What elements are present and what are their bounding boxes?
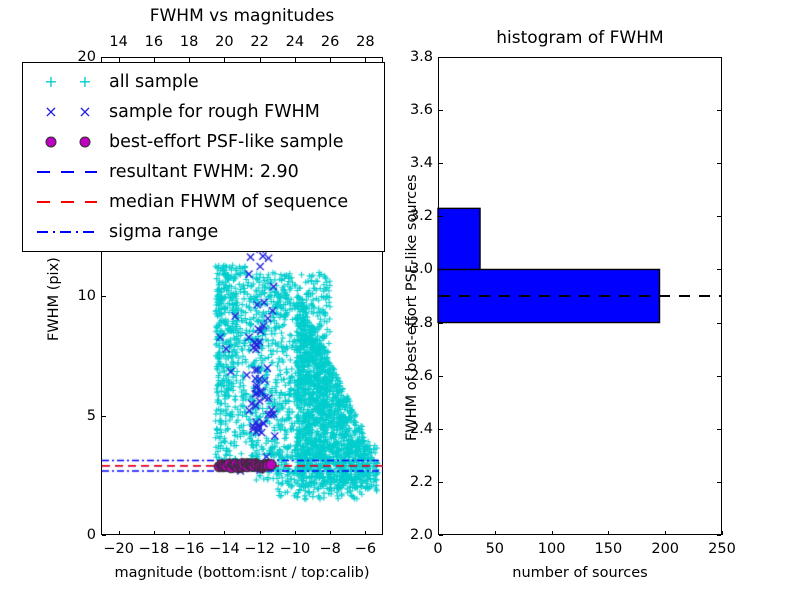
tick-label: 5: [63, 408, 96, 424]
tick-mark: [154, 531, 155, 535]
tick-mark: [717, 57, 721, 58]
histogram-bar: [438, 208, 480, 269]
tick-mark: [717, 376, 721, 377]
tick-label: 2.6: [394, 368, 433, 384]
tick-mark: [330, 531, 331, 535]
tick-mark: [608, 531, 609, 535]
legend-label: sigma range: [105, 222, 218, 242]
tick-mark: [102, 296, 106, 297]
tick-mark: [439, 482, 443, 483]
tick-label: 50: [486, 541, 504, 557]
legend-marker-dot-icon: [29, 129, 105, 155]
tick-label: 24: [286, 34, 304, 50]
tick-label: −14: [209, 541, 240, 557]
legend-label: sample for rough FWHM: [105, 102, 320, 122]
tick-label: 26: [321, 34, 339, 50]
tick-label: 0: [433, 541, 442, 557]
tick-mark: [260, 531, 261, 535]
tick-mark: [439, 163, 443, 164]
tick-label: −18: [139, 541, 170, 557]
legend-marker-dashdot-icon: [29, 219, 105, 245]
tick-mark: [102, 57, 106, 58]
tick-label: 28: [356, 34, 374, 50]
legend-marker-dashed-icon: [29, 159, 105, 185]
right-panel-xlabel: number of sources: [438, 565, 722, 581]
legend-marker-dashed-icon: [29, 189, 105, 215]
tick-mark: [717, 482, 721, 483]
legend-item-4: median FHWM of sequence: [29, 187, 376, 217]
plus-marker-icon: +: [44, 74, 57, 90]
tick-mark: [295, 531, 296, 535]
legend-marker-plus-icon: ++: [29, 69, 105, 95]
right-panel-title: histogram of FWHM: [438, 28, 722, 48]
tick-label: 250: [708, 541, 736, 557]
left-panel-ylabel: FWHM (pix): [46, 257, 62, 341]
legend-item-5: sigma range: [29, 217, 376, 247]
tick-mark: [495, 531, 496, 535]
legend-item-2: best-effort PSF-like sample: [29, 127, 376, 157]
tick-mark: [102, 416, 106, 417]
tick-label: 2.8: [394, 315, 433, 331]
tick-label: −10: [280, 541, 311, 557]
tick-label: −20: [103, 541, 134, 557]
tick-mark: [439, 110, 443, 111]
left-panel-xlabel: magnitude (bottom:isnt / top:calib): [101, 565, 383, 581]
tick-mark: [119, 531, 120, 535]
histogram-bars: [439, 58, 722, 535]
tick-mark: [665, 531, 666, 535]
tick-mark: [717, 216, 721, 217]
legend-item-1: ××sample for rough FWHM: [29, 97, 376, 127]
tick-label: 14: [109, 34, 127, 50]
left-panel-title: FWHM vs magnitudes: [101, 6, 383, 26]
tick-label: 150: [595, 541, 623, 557]
figure-canvas: FWHM vs magnitudes magnitude (bottom:isn…: [0, 0, 800, 600]
tick-label: −12: [244, 541, 275, 557]
tick-mark: [717, 269, 721, 270]
tick-label: 100: [538, 541, 566, 557]
tick-label: 0: [63, 527, 96, 543]
tick-mark: [102, 535, 106, 536]
tick-label: 200: [651, 541, 679, 557]
legend-marker-cross-icon: ××: [29, 99, 105, 125]
tick-label: 22: [250, 34, 268, 50]
legend-item-3: resultant FWHM: 2.90: [29, 157, 376, 187]
tick-label: −16: [174, 541, 205, 557]
tick-mark: [224, 531, 225, 535]
tick-label: −6: [355, 541, 376, 557]
tick-label: 3.4: [394, 155, 433, 171]
cross-marker-icon: ×: [78, 104, 91, 120]
dot-marker-icon: [80, 137, 91, 148]
tick-mark: [439, 535, 443, 536]
tick-label: 3.2: [394, 208, 433, 224]
tick-mark: [365, 531, 366, 535]
legend-label: best-effort PSF-like sample: [105, 132, 344, 152]
tick-label: 2.4: [394, 421, 433, 437]
tick-label: 20: [215, 34, 233, 50]
dot-marker-icon: [46, 137, 57, 148]
tick-label: 3.6: [394, 102, 433, 118]
tick-label: 3.8: [394, 49, 433, 65]
tick-mark: [717, 323, 721, 324]
tick-label: 18: [180, 34, 198, 50]
tick-mark: [552, 531, 553, 535]
tick-mark: [717, 535, 721, 536]
tick-label: 10: [63, 288, 96, 304]
tick-mark: [439, 376, 443, 377]
tick-mark: [717, 110, 721, 111]
cross-marker-icon: ×: [44, 104, 57, 120]
legend-label: all sample: [105, 72, 199, 92]
tick-mark: [717, 163, 721, 164]
tick-mark: [717, 429, 721, 430]
tick-mark: [439, 429, 443, 430]
tick-label: 2.2: [394, 474, 433, 490]
plus-marker-icon: +: [78, 74, 91, 90]
tick-label: 3.0: [394, 261, 433, 277]
tick-label: −8: [319, 541, 340, 557]
tick-mark: [439, 269, 443, 270]
tick-label: 2.0: [394, 527, 433, 543]
tick-mark: [189, 531, 190, 535]
legend-box: ++all sample××sample for rough FWHMbest-…: [22, 62, 385, 252]
legend-label: median FHWM of sequence: [105, 192, 348, 212]
tick-mark: [439, 323, 443, 324]
tick-label: 16: [145, 34, 163, 50]
tick-mark: [722, 531, 723, 535]
tick-mark: [439, 57, 443, 58]
tick-mark: [439, 216, 443, 217]
legend-item-0: ++all sample: [29, 67, 376, 97]
legend-label: resultant FWHM: 2.90: [105, 162, 299, 182]
